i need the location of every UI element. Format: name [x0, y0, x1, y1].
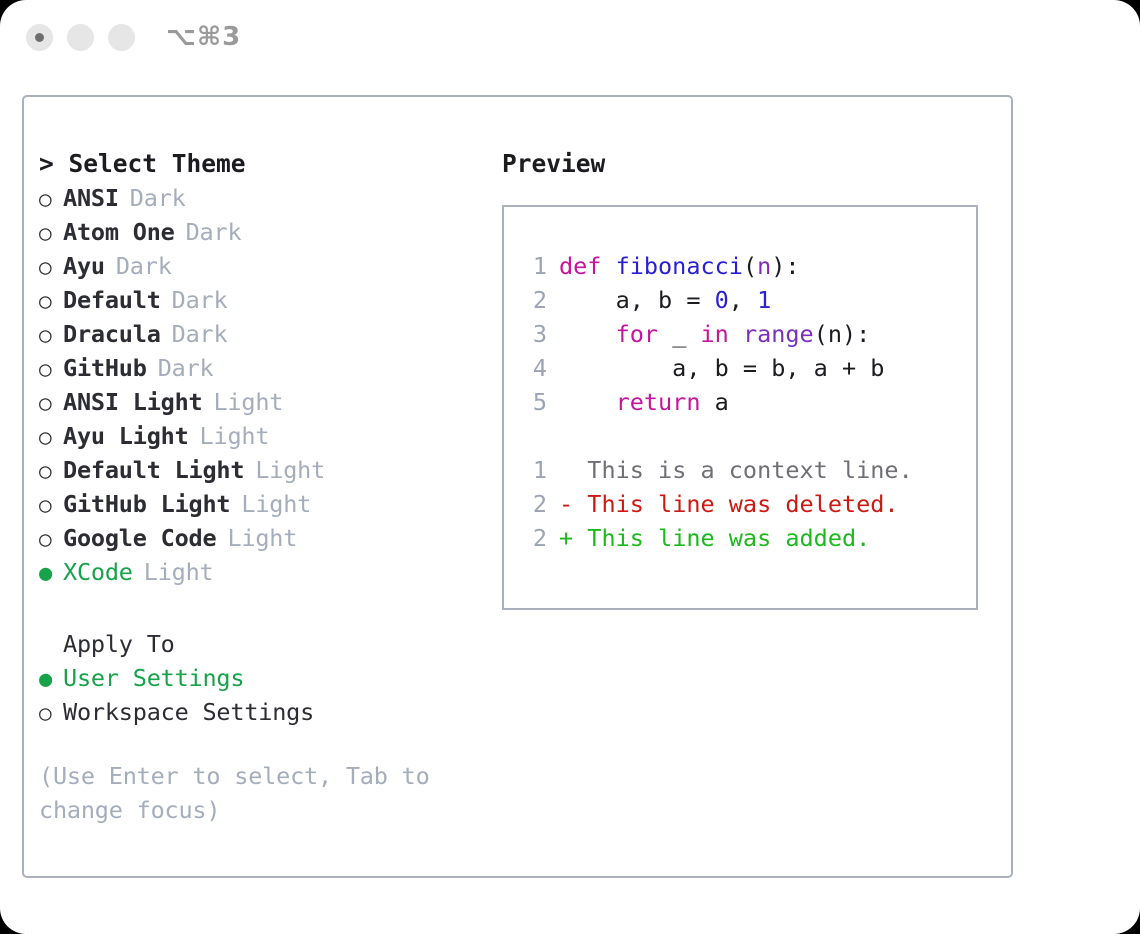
- code-line: 4 a, b = b, a + b: [521, 351, 913, 385]
- radio-selected-icon: ●: [39, 663, 63, 697]
- code-token-plain: a: [700, 388, 728, 416]
- diff-line-del: 2- This line was deleted.: [521, 487, 913, 521]
- apply-to-heading: Apply To: [39, 627, 489, 661]
- theme-name: Atom One: [63, 215, 175, 249]
- theme-kind-badge: Light: [213, 385, 283, 419]
- code-token-plain: (n):: [814, 320, 871, 348]
- apply-to-label: Workspace Settings: [63, 695, 314, 729]
- theme-kind-badge: Dark: [116, 249, 172, 283]
- window-controls: [26, 24, 135, 51]
- code-line: 3 for _ in range(n):: [521, 317, 913, 351]
- theme-option-ansi-light[interactable]: ○ANSI LightLight: [39, 385, 489, 419]
- theme-name: Ayu Light: [63, 419, 189, 453]
- radio-unselected-icon: ○: [39, 182, 63, 216]
- theme-option-dracula[interactable]: ○DraculaDark: [39, 317, 489, 351]
- radio-unselected-icon: ○: [39, 454, 63, 488]
- code-token-num: 1: [757, 286, 771, 314]
- window-titlebar: ⌥⌘3: [0, 0, 1140, 78]
- theme-option-default[interactable]: ○DefaultDark: [39, 283, 489, 317]
- line-number: 1: [521, 249, 547, 283]
- code-token-plain: [559, 388, 616, 416]
- theme-selection-column: > Select Theme ○ANSIDark○Atom OneDark○Ay…: [39, 147, 489, 827]
- code-token-plain: _: [658, 320, 700, 348]
- theme-name: Dracula: [63, 317, 161, 351]
- theme-option-ayu[interactable]: ○AyuDark: [39, 249, 489, 283]
- apply-to-list[interactable]: ●User Settings○Workspace Settings: [39, 661, 489, 729]
- preview-column: Preview 1def fibonacci(n):2 a, b = 0, 13…: [502, 147, 992, 610]
- code-token-kw: for: [616, 320, 658, 348]
- hint-spacer: [39, 729, 489, 759]
- line-number: 1: [521, 453, 547, 487]
- theme-name: GitHub Light: [63, 487, 230, 521]
- diff-text: This is a context line.: [573, 456, 913, 484]
- line-number: 5: [521, 385, 547, 419]
- line-number: 4: [521, 351, 547, 385]
- theme-option-atom-one[interactable]: ○Atom OneDark: [39, 215, 489, 249]
- apply-to-option-workspace-settings[interactable]: ○Workspace Settings: [39, 695, 489, 729]
- diff-text: This line was deleted.: [573, 490, 898, 518]
- code-token-kw: def: [559, 252, 616, 280]
- radio-unselected-icon: ○: [39, 488, 63, 522]
- code-token-plain: (: [743, 252, 757, 280]
- code-token-num: 0: [715, 286, 729, 314]
- diff-text: This line was added.: [573, 524, 870, 552]
- code-preview: 1def fibonacci(n):2 a, b = 0, 13 for _ i…: [521, 249, 913, 555]
- radio-unselected-icon: ○: [39, 284, 63, 318]
- diff-sign: [559, 456, 573, 484]
- radio-unselected-icon: ○: [39, 522, 63, 556]
- section-spacer: [39, 589, 489, 627]
- preview-box: 1def fibonacci(n):2 a, b = 0, 13 for _ i…: [502, 205, 978, 610]
- theme-option-ansi[interactable]: ○ANSIDark: [39, 181, 489, 215]
- code-line: 1def fibonacci(n):: [521, 249, 913, 283]
- theme-kind-badge: Light: [241, 487, 311, 521]
- code-token-plain: a, b = b, a + b: [559, 354, 884, 382]
- radio-unselected-icon: ○: [39, 250, 63, 284]
- code-token-kw: in: [701, 320, 729, 348]
- radio-unselected-icon: ○: [39, 216, 63, 250]
- line-number: 2: [521, 283, 547, 317]
- apply-to-label: User Settings: [63, 661, 244, 695]
- theme-option-github-light[interactable]: ○GitHub LightLight: [39, 487, 489, 521]
- diff-sign: -: [559, 490, 573, 518]
- code-token-var: range: [743, 320, 814, 348]
- theme-kind-badge: Light: [144, 555, 214, 589]
- theme-kind-badge: Dark: [172, 283, 228, 317]
- window-dot-second-icon[interactable]: [67, 24, 94, 51]
- theme-kind-badge: Light: [200, 419, 270, 453]
- line-number: 2: [521, 521, 547, 555]
- code-token-plain: [559, 320, 616, 348]
- theme-option-github[interactable]: ○GitHubDark: [39, 351, 489, 385]
- diff-sign: +: [559, 524, 573, 552]
- code-blank-line: [521, 419, 913, 453]
- theme-list[interactable]: ○ANSIDark○Atom OneDark○AyuDark○DefaultDa…: [39, 181, 489, 589]
- code-line: 5 return a: [521, 385, 913, 419]
- keyboard-shortcut-label: ⌥⌘3: [166, 22, 241, 52]
- theme-name: ANSI: [63, 181, 119, 215]
- radio-unselected-icon: ○: [39, 386, 63, 420]
- code-token-plain: ,: [729, 286, 757, 314]
- code-token-plain: [729, 320, 743, 348]
- app-window: ⌥⌘3 > Select Theme ○ANSIDark○Atom OneDar…: [0, 0, 1140, 934]
- window-dot-active-icon[interactable]: [26, 24, 53, 51]
- theme-name: XCode: [63, 555, 133, 589]
- line-number: 3: [521, 317, 547, 351]
- theme-name: Ayu: [63, 249, 105, 283]
- theme-name: GitHub: [63, 351, 147, 385]
- line-number: 2: [521, 487, 547, 521]
- theme-option-xcode[interactable]: ●XCodeLight: [39, 555, 489, 589]
- radio-selected-icon: ●: [39, 557, 63, 591]
- code-token-kw: return: [616, 388, 701, 416]
- apply-to-option-user-settings[interactable]: ●User Settings: [39, 661, 489, 695]
- theme-kind-badge: Dark: [172, 317, 228, 351]
- theme-name: Google Code: [63, 521, 216, 555]
- theme-name: ANSI Light: [63, 385, 202, 419]
- diff-line-ctx: 1 This is a context line.: [521, 453, 913, 487]
- code-token-var: n: [757, 252, 771, 280]
- theme-name: Default Light: [63, 453, 244, 487]
- keyboard-hint-text: (Use Enter to select, Tab to change focu…: [39, 759, 449, 827]
- code-token-plain: a, b =: [559, 286, 715, 314]
- radio-unselected-icon: ○: [39, 318, 63, 352]
- radio-unselected-icon: ○: [39, 420, 63, 454]
- theme-name: Default: [63, 283, 161, 317]
- theme-option-ayu-light[interactable]: ○Ayu LightLight: [39, 419, 489, 453]
- window-dot-third-icon[interactable]: [108, 24, 135, 51]
- code-token-fn: fibonacci: [616, 252, 743, 280]
- code-line: 2 a, b = 0, 1: [521, 283, 913, 317]
- theme-option-default-light[interactable]: ○Default LightLight: [39, 453, 489, 487]
- theme-kind-badge: Light: [227, 521, 297, 555]
- diff-line-add: 2+ This line was added.: [521, 521, 913, 555]
- code-token-plain: ):: [771, 252, 799, 280]
- theme-kind-badge: Dark: [186, 215, 242, 249]
- radio-unselected-icon: ○: [39, 696, 63, 730]
- radio-unselected-icon: ○: [39, 352, 63, 386]
- select-theme-heading: > Select Theme: [39, 147, 489, 181]
- theme-option-google-code[interactable]: ○Google CodeLight: [39, 521, 489, 555]
- main-panel: > Select Theme ○ANSIDark○Atom OneDark○Ay…: [22, 95, 1013, 878]
- preview-heading: Preview: [502, 147, 992, 181]
- theme-kind-badge: Light: [255, 453, 325, 487]
- theme-kind-badge: Dark: [158, 351, 214, 385]
- theme-kind-badge: Dark: [130, 181, 186, 215]
